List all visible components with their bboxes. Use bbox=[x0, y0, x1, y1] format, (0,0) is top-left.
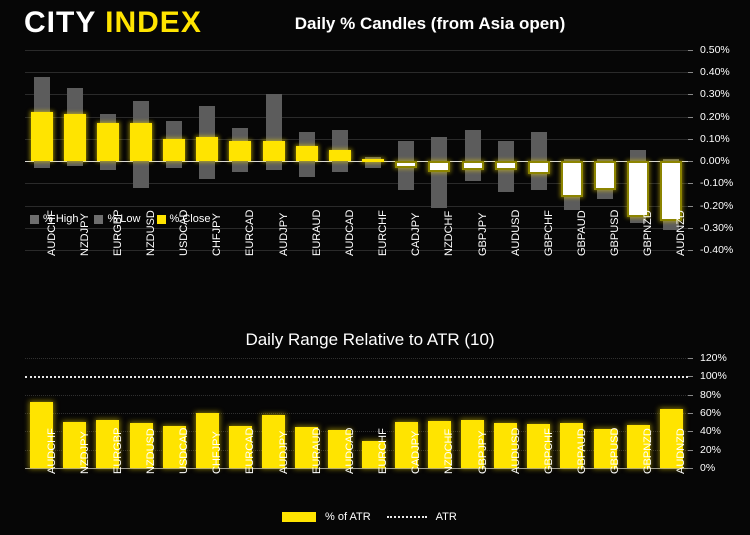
candle-body bbox=[296, 146, 318, 162]
x-axis-label: GBPAUD bbox=[576, 428, 588, 474]
legend-label: % High bbox=[43, 213, 78, 225]
x-axis-label: EURAUD bbox=[311, 428, 323, 474]
x-axis-label: EURGBP bbox=[112, 428, 124, 474]
legend-item: % Close bbox=[157, 213, 211, 225]
candle-body bbox=[395, 161, 417, 168]
brand-city-text: CITY bbox=[24, 6, 96, 39]
y-axis-label: 0.30% bbox=[700, 88, 730, 100]
x-axis-label: GBPUSD bbox=[609, 210, 621, 256]
x-axis-label: NZDJPY bbox=[79, 431, 91, 474]
x-axis-label: GBPJPY bbox=[477, 213, 489, 256]
y-tick bbox=[688, 468, 693, 469]
candle-body bbox=[229, 141, 251, 161]
y-tick bbox=[688, 183, 693, 184]
y-tick bbox=[688, 450, 693, 451]
y-axis-label: -0.40% bbox=[700, 244, 733, 256]
x-axis-label: GBPJPY bbox=[477, 431, 489, 474]
legend-dotted-line-icon bbox=[387, 516, 427, 518]
candle-body bbox=[31, 112, 53, 161]
x-axis-label: GBPAUD bbox=[576, 210, 588, 256]
x-axis-label: NZDCHF bbox=[443, 429, 455, 474]
x-axis-label: EURAUD bbox=[311, 210, 323, 256]
y-tick bbox=[688, 161, 693, 162]
axis-line bbox=[25, 468, 688, 469]
y-axis-label: 100% bbox=[700, 370, 727, 382]
candle-body bbox=[64, 114, 86, 161]
x-axis-label: AUDNZD bbox=[675, 428, 687, 474]
legend-swatch-icon bbox=[157, 215, 166, 224]
y-tick bbox=[688, 139, 693, 140]
brand-logo: CITY INDEX bbox=[24, 8, 202, 38]
legend-swatch-icon bbox=[94, 215, 103, 224]
x-axis-label: CADJPY bbox=[410, 213, 422, 256]
candle-body bbox=[561, 161, 583, 197]
candle-wick bbox=[465, 130, 481, 181]
candle-body bbox=[97, 123, 119, 161]
x-axis-label: AUDNZD bbox=[675, 210, 687, 256]
y-tick bbox=[688, 250, 693, 251]
x-axis-label: GBPCHF bbox=[543, 428, 555, 474]
y-tick bbox=[688, 228, 693, 229]
y-axis-label: 0.20% bbox=[700, 111, 730, 123]
x-axis-label: AUDUSD bbox=[510, 428, 522, 474]
x-axis-label: GBPNZD bbox=[642, 210, 654, 256]
y-tick bbox=[688, 50, 693, 51]
candle-body bbox=[594, 161, 616, 190]
y-tick bbox=[688, 413, 693, 414]
y-tick bbox=[688, 358, 693, 359]
candle-body bbox=[130, 123, 152, 161]
atr-chart-title: Daily Range Relative to ATR (10) bbox=[130, 330, 610, 350]
x-axis-label: EURCHF bbox=[377, 428, 389, 474]
chart-page: CITY INDEX Daily % Candles (from Asia op… bbox=[0, 0, 750, 535]
y-axis-label: 0.00% bbox=[700, 155, 730, 167]
legend-item: % High bbox=[30, 213, 78, 225]
x-axis-label: AUDCAD bbox=[344, 210, 356, 256]
y-axis-label: 80% bbox=[700, 389, 721, 401]
y-tick bbox=[688, 206, 693, 207]
x-axis-label: CHFJPY bbox=[211, 431, 223, 474]
legend-item: % of ATR bbox=[282, 511, 371, 523]
y-axis-label: 0.10% bbox=[700, 133, 730, 145]
gridline bbox=[25, 358, 688, 359]
y-axis-label: 0.40% bbox=[700, 66, 730, 78]
legend-label: ATR bbox=[436, 511, 457, 523]
legend-swatch-icon bbox=[30, 215, 39, 224]
y-axis-label: 0.50% bbox=[700, 44, 730, 56]
x-axis-label: EURCAD bbox=[244, 428, 256, 474]
y-tick bbox=[688, 431, 693, 432]
x-axis-label: CADJPY bbox=[410, 431, 422, 474]
atr-chart-legend: % of ATRATR bbox=[282, 511, 467, 523]
legend-item: % Low bbox=[94, 213, 140, 225]
x-axis-label: AUDCHF bbox=[46, 428, 58, 474]
x-axis-label: GBPNZD bbox=[642, 428, 654, 474]
legend-bar-icon bbox=[282, 512, 316, 522]
x-axis-label: AUDJPY bbox=[278, 213, 290, 256]
legend-label: % of ATR bbox=[325, 511, 371, 523]
x-axis-label: GBPCHF bbox=[543, 210, 555, 256]
gridline bbox=[25, 450, 688, 451]
candle-body bbox=[329, 150, 351, 161]
y-axis-label: 120% bbox=[700, 352, 727, 364]
candle-body bbox=[163, 139, 185, 161]
legend-label: % Low bbox=[107, 213, 140, 225]
y-tick bbox=[688, 395, 693, 396]
x-axis-label: AUDJPY bbox=[278, 431, 290, 474]
candle-body bbox=[362, 159, 384, 162]
y-axis-label: 40% bbox=[700, 425, 721, 437]
gridline bbox=[25, 431, 688, 432]
candle-body bbox=[462, 161, 484, 170]
atr-chart-plot-area bbox=[25, 358, 688, 468]
y-axis-label: -0.30% bbox=[700, 222, 733, 234]
candle-body bbox=[627, 161, 649, 217]
y-axis-label: 60% bbox=[700, 407, 721, 419]
candle-chart-legend: % High% Low% Close bbox=[30, 213, 220, 225]
y-tick bbox=[688, 94, 693, 95]
x-axis-label: NZDUSD bbox=[145, 428, 157, 474]
x-axis-label: EURCHF bbox=[377, 210, 389, 256]
y-axis-label: -0.10% bbox=[700, 177, 733, 189]
gridline bbox=[25, 413, 688, 414]
y-axis-label: 0% bbox=[700, 462, 715, 474]
candle-body bbox=[528, 161, 550, 174]
y-tick bbox=[688, 376, 693, 377]
candle-body bbox=[495, 161, 517, 170]
y-axis-label: 20% bbox=[700, 444, 721, 456]
candle-body bbox=[196, 137, 218, 161]
x-axis-label: USDCAD bbox=[178, 428, 190, 474]
candle-body bbox=[263, 141, 285, 161]
x-axis-label: EURCAD bbox=[244, 210, 256, 256]
y-tick bbox=[688, 117, 693, 118]
gridline bbox=[25, 395, 688, 396]
x-axis-label: GBPUSD bbox=[609, 428, 621, 474]
legend-item: ATR bbox=[387, 511, 457, 523]
top-chart-title: Daily % Candles (from Asia open) bbox=[240, 14, 620, 34]
x-axis-label: AUDUSD bbox=[510, 210, 522, 256]
x-axis-label: AUDCAD bbox=[344, 428, 356, 474]
x-axis-label: NZDCHF bbox=[443, 211, 455, 256]
gridline bbox=[25, 250, 688, 251]
legend-label: % Close bbox=[170, 213, 211, 225]
atr-reference-line bbox=[25, 376, 688, 378]
y-axis-label: -0.20% bbox=[700, 200, 733, 212]
y-tick bbox=[688, 72, 693, 73]
candle-body bbox=[428, 161, 450, 172]
brand-index-text: INDEX bbox=[105, 6, 202, 39]
